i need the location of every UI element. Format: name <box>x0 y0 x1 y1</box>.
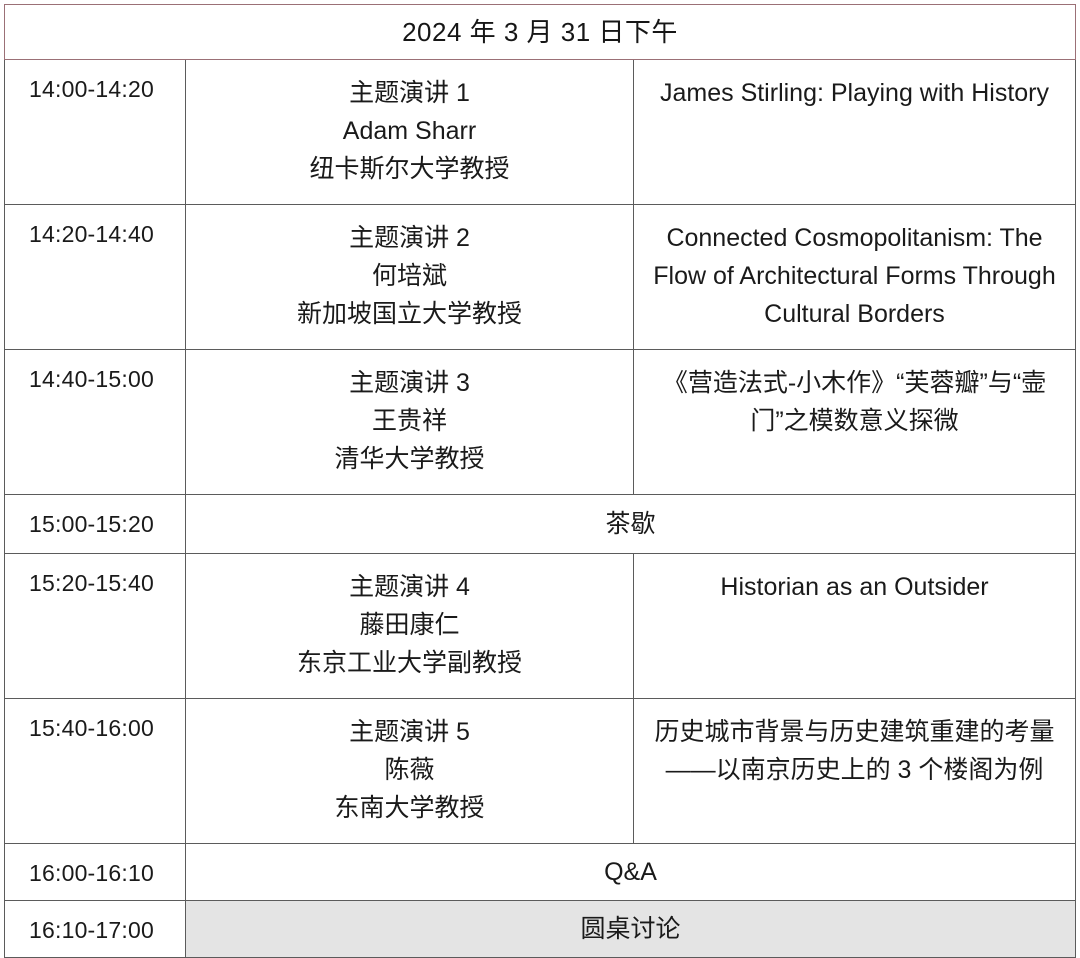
time-slot: 14:00-14:20 <box>5 60 185 103</box>
time-slot: 14:20-14:40 <box>5 205 185 248</box>
time-cell: 16:10-17:00 <box>5 901 186 958</box>
time-slot: 15:00-15:20 <box>5 495 185 538</box>
talk-title: 《营造法式-小木作》“芙蓉瓣”与“壸门”之模数意义探微 <box>634 350 1075 456</box>
session-label: 主题演讲 4 <box>196 568 623 606</box>
session-cell: 主题演讲 4 藤田康仁 东京工业大学副教授 <box>186 554 634 699</box>
time-cell: 15:00-15:20 <box>5 495 186 554</box>
talk-title-cell: James Stirling: Playing with History <box>634 60 1076 205</box>
talk-title-line-1: 历史城市背景与历史建筑重建的考量 <box>654 718 1054 746</box>
talk-title-cell: 历史城市背景与历史建筑重建的考量 ——以南京历史上的 3 个楼阁为例 <box>634 699 1076 844</box>
speaker-name: 陈薇 <box>196 751 623 789</box>
session-cell: 主题演讲 2 何培斌 新加坡国立大学教授 <box>186 205 634 350</box>
header-date-cell: 2024 年 3 月 31 日下午 <box>5 5 1076 60</box>
session-cell-full-width: 茶歇 <box>186 495 1076 554</box>
talk-title: Historian as an Outsider <box>634 554 1075 622</box>
speaker-name: 王贵祥 <box>196 402 623 440</box>
table-row: 14:00-14:20 主题演讲 1 Adam Sharr 纽卡斯尔大学教授 J… <box>5 60 1076 205</box>
session-cell: 主题演讲 1 Adam Sharr 纽卡斯尔大学教授 <box>186 60 634 205</box>
speaker-name: Adam Sharr <box>196 112 623 150</box>
talk-title-line-2: ——以南京历史上的 3 个楼阁为例 <box>666 756 1044 784</box>
schedule-page: 2024 年 3 月 31 日下午 14:00-14:20 主题演讲 1 Ada… <box>0 0 1080 905</box>
session-cell-full-width: Q&A <box>186 844 1076 901</box>
session-label: 茶歇 <box>186 507 1075 542</box>
session-cell: 主题演讲 5 陈薇 东南大学教授 <box>186 699 634 844</box>
time-cell: 14:40-15:00 <box>5 350 186 495</box>
page-title: 2024 年 3 月 31 日下午 <box>402 17 678 47</box>
session-cell: 主题演讲 3 王贵祥 清华大学教授 <box>186 350 634 495</box>
session-label: 主题演讲 3 <box>196 364 623 402</box>
time-cell: 14:00-14:20 <box>5 60 186 205</box>
session-label: Q&A <box>186 855 1075 890</box>
speaker-name: 藤田康仁 <box>196 606 623 644</box>
time-slot: 15:20-15:40 <box>5 554 185 597</box>
talk-title: Connected Cosmopolitanism: The Flow of A… <box>634 205 1075 349</box>
time-slot: 15:40-16:00 <box>5 699 185 742</box>
speaker-affiliation: 清华大学教授 <box>196 440 623 478</box>
session-label: 主题演讲 1 <box>196 74 623 112</box>
afternoon-schedule-table: 2024 年 3 月 31 日下午 14:00-14:20 主题演讲 1 Ada… <box>4 4 1076 958</box>
time-cell: 16:00-16:10 <box>5 844 186 901</box>
talk-title-cell: Connected Cosmopolitanism: The Flow of A… <box>634 205 1076 350</box>
table-row: 15:00-15:20 茶歇 <box>5 495 1076 554</box>
session-label: 圆桌讨论 <box>186 912 1075 947</box>
time-cell: 14:20-14:40 <box>5 205 186 350</box>
time-slot: 16:10-17:00 <box>5 901 185 944</box>
time-slot: 14:40-15:00 <box>5 350 185 393</box>
table-row: 14:40-15:00 主题演讲 3 王贵祥 清华大学教授 《营造法式-小木作》… <box>5 350 1076 495</box>
time-cell: 15:20-15:40 <box>5 554 186 699</box>
speaker-affiliation: 新加坡国立大学教授 <box>196 295 623 333</box>
time-cell: 15:40-16:00 <box>5 699 186 844</box>
table-row: 15:40-16:00 主题演讲 5 陈薇 东南大学教授 历史城市背景与历史建筑… <box>5 699 1076 844</box>
table-row: 16:10-17:00 圆桌讨论 <box>5 901 1076 958</box>
table-header-row: 2024 年 3 月 31 日下午 <box>5 5 1076 60</box>
talk-title-cell: Historian as an Outsider <box>634 554 1076 699</box>
session-label: 主题演讲 2 <box>196 219 623 257</box>
speaker-affiliation: 东南大学教授 <box>196 789 623 827</box>
table-row: 15:20-15:40 主题演讲 4 藤田康仁 东京工业大学副教授 Histor… <box>5 554 1076 699</box>
speaker-affiliation: 纽卡斯尔大学教授 <box>196 150 623 188</box>
session-label: 主题演讲 5 <box>196 713 623 751</box>
talk-title: James Stirling: Playing with History <box>634 60 1075 128</box>
table-row: 14:20-14:40 主题演讲 2 何培斌 新加坡国立大学教授 Connect… <box>5 205 1076 350</box>
table-row: 16:00-16:10 Q&A <box>5 844 1076 901</box>
talk-title-cell: 《营造法式-小木作》“芙蓉瓣”与“壸门”之模数意义探微 <box>634 350 1076 495</box>
session-cell-full-width: 圆桌讨论 <box>186 901 1076 958</box>
speaker-affiliation: 东京工业大学副教授 <box>196 644 623 682</box>
speaker-name: 何培斌 <box>196 257 623 295</box>
time-slot: 16:00-16:10 <box>5 844 185 887</box>
